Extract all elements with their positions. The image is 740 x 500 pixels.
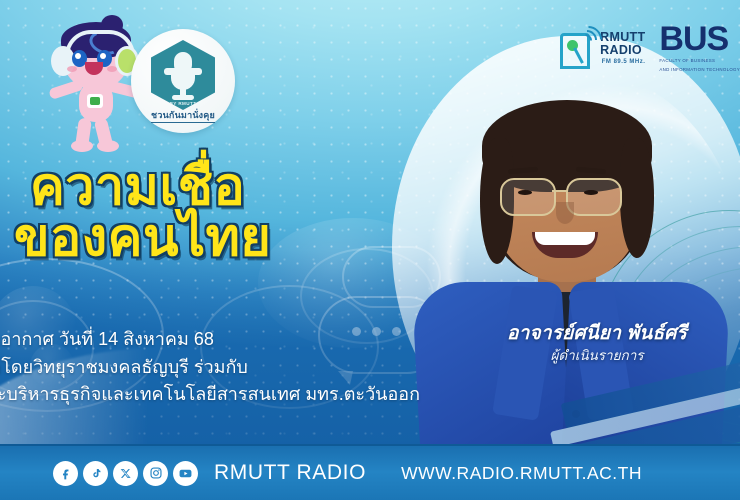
eyeglasses-icon (500, 178, 556, 216)
hexagon-shape: BY RMUTT (151, 40, 215, 110)
radio-logo-line2: RADIO (600, 44, 645, 57)
footer-brand: RMUTT RADIO (214, 461, 366, 485)
footer-bar: RMUTT RADIO WWW.RADIO.RMUTT.AC.TH (0, 444, 740, 500)
badge-mic-label: BY RMUTT (151, 101, 215, 106)
footer-website-url[interactable]: WWW.RADIO.RMUTT.AC.TH (401, 463, 642, 484)
headline-line-1: ความเชื่อ (30, 158, 245, 216)
tiktok-icon[interactable] (83, 461, 108, 486)
instagram-icon[interactable] (143, 461, 168, 486)
poster-headline: ความเชื่อ ของคนไทย (30, 160, 271, 265)
radio-logo-line1: RMUTT (600, 31, 645, 44)
headline-line-2: ของคนไทย (14, 211, 271, 266)
x-icon[interactable] (113, 461, 138, 486)
presenter-role: ผู้ดำเนินรายการ (472, 344, 722, 366)
broadcast-line-3: คณะบริหารธุรกิจและเทคโนโลยีสารสนเทศ มทร.… (0, 381, 420, 408)
social-links (53, 461, 198, 486)
logo-group: RMUTT RADIO FM 89.5 MHz. BUS FACULTY OF … (560, 22, 740, 73)
youtube-icon[interactable] (173, 461, 198, 486)
faculty-logo-sub2: AND INFORMATION TECHNOLOGY (659, 67, 740, 74)
faculty-logo: BUS FACULTY OF BUSINESS AND INFORMATION … (659, 22, 740, 73)
radio-tower-icon (560, 31, 594, 65)
faculty-logo-sub1: FACULTY OF BUSINESS (659, 58, 740, 65)
mascot-character (45, 22, 145, 148)
radio-logo-frequency: FM 89.5 MHz. (600, 59, 645, 65)
radio-program-poster: BY RMUTT ชวนกันมานั่งคุย RMUTT RADIO FM … (0, 0, 740, 500)
badge-caption: ชวนกันมานั่งคุย (151, 111, 215, 123)
broadcast-line-1: ออกอากาศ วันที่ 14 สิงหาคม 68 (0, 326, 420, 353)
eyeglasses-icon (566, 178, 622, 216)
broadcast-line-2: ผลิตโดยวิทยุราชมงคลธัญบุรี ร่วมกับ (0, 354, 420, 381)
faculty-logo-mark: BUS (659, 22, 740, 56)
show-logo-badge: BY RMUTT ชวนกันมานั่งคุย (131, 29, 235, 133)
facebook-icon[interactable] (53, 461, 78, 486)
rmutt-radio-logo: RMUTT RADIO FM 89.5 MHz. (560, 31, 645, 65)
broadcast-details: ออกอากาศ วันที่ 14 สิงหาคม 68 ผลิตโดยวิท… (0, 326, 420, 409)
